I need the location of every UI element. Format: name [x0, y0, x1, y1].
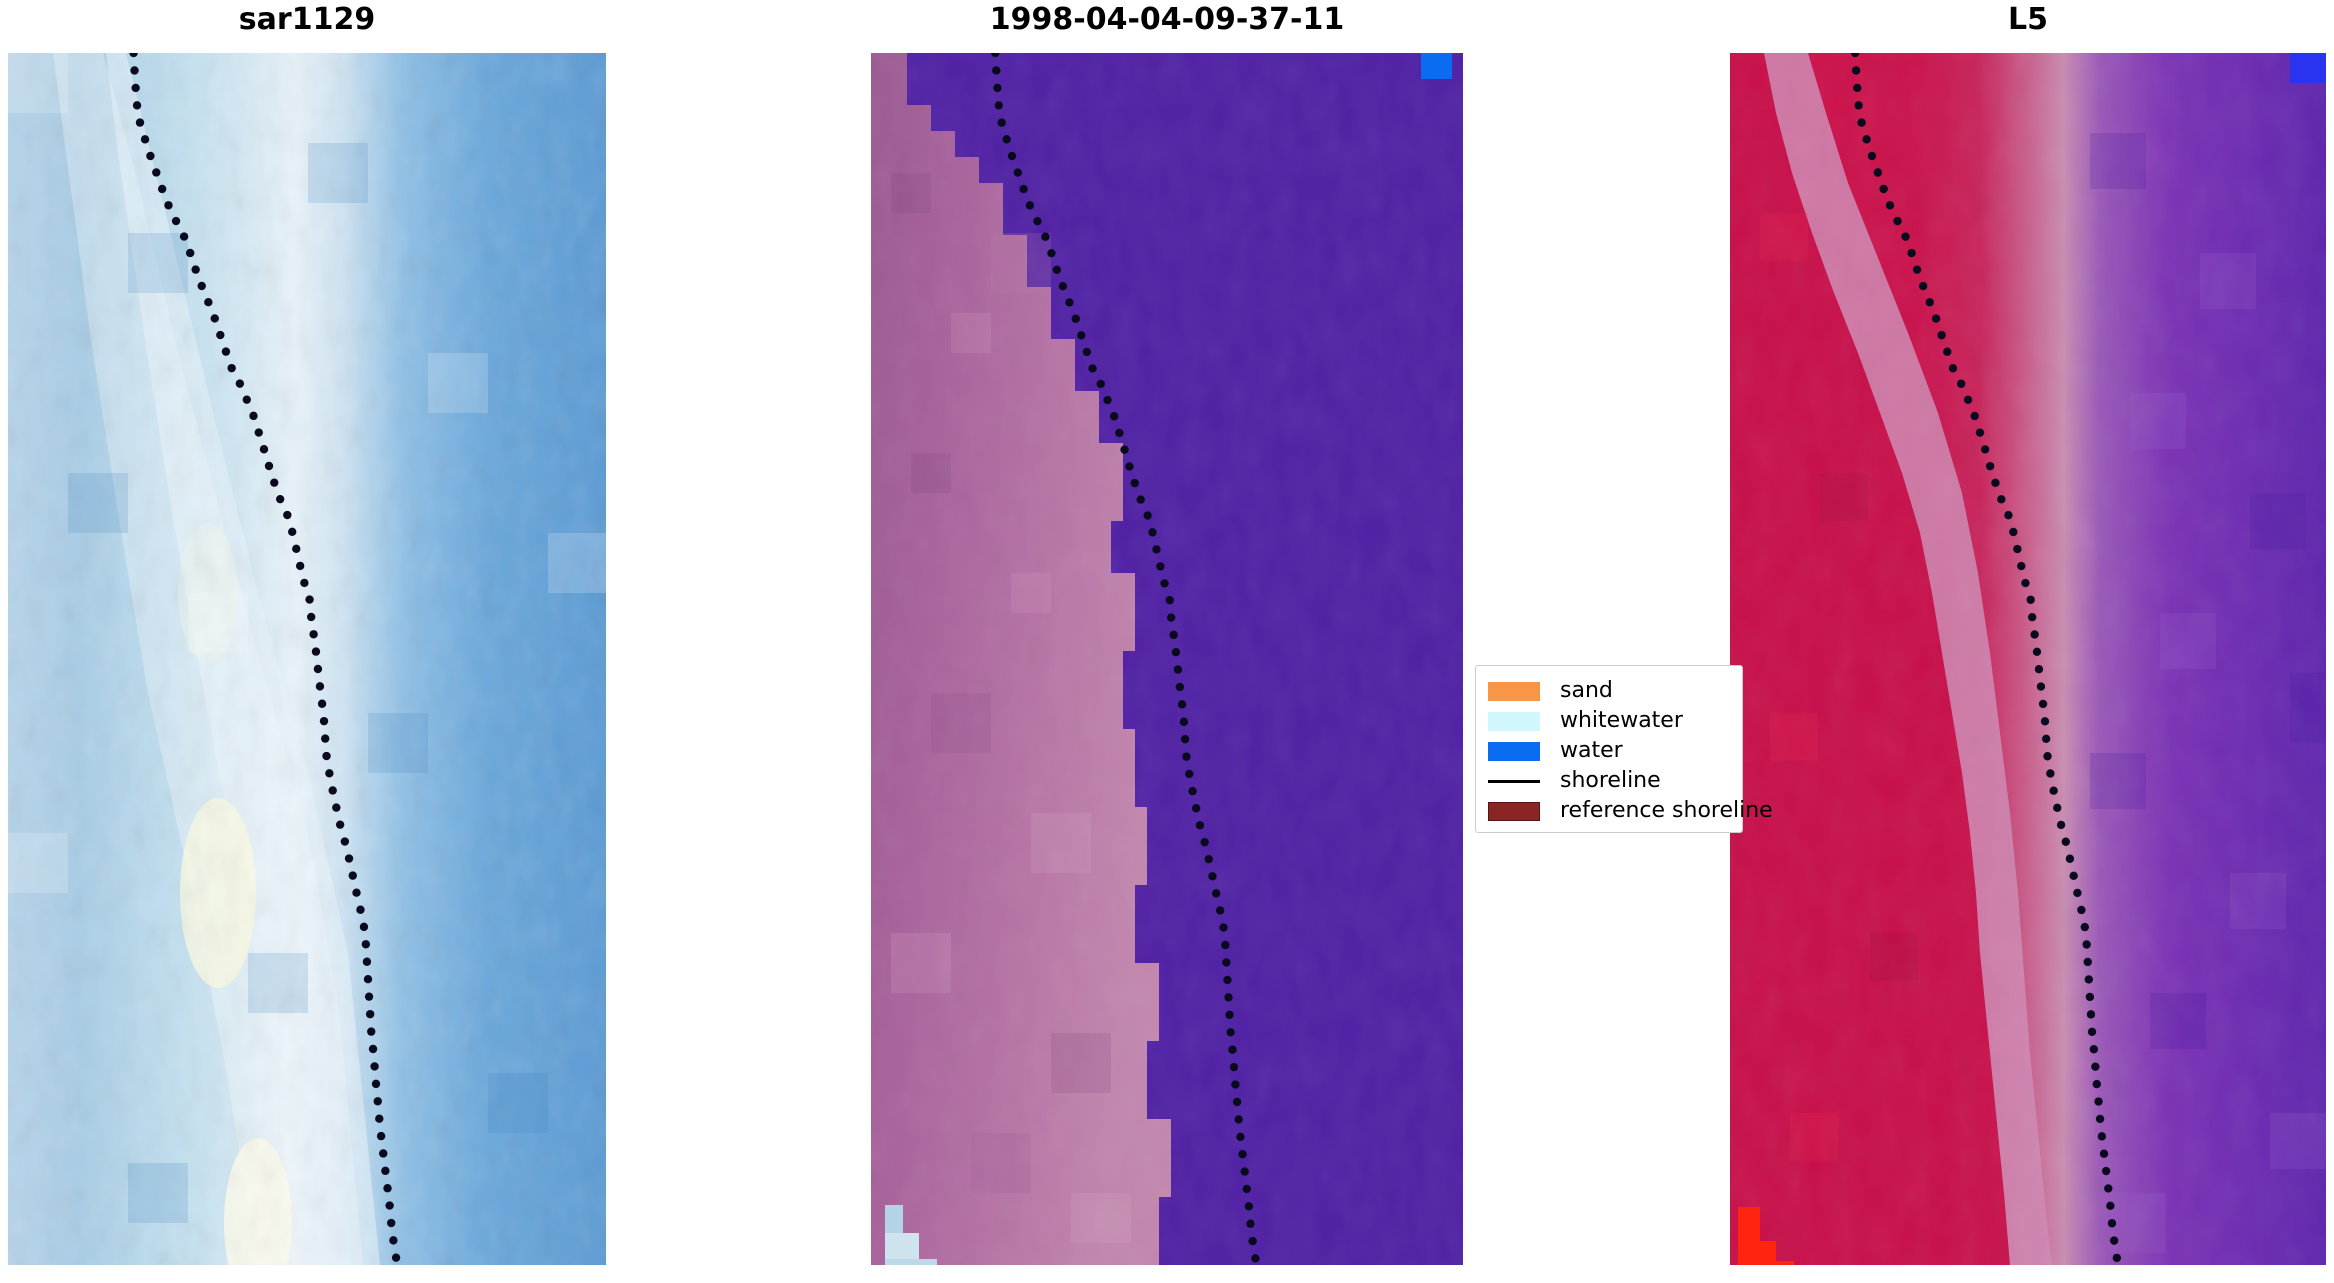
- classified-panel[interactable]: [871, 53, 1463, 1265]
- shoreline-dots: [991, 53, 1259, 1263]
- legend-label-whitewater: whitewater: [1560, 710, 1683, 732]
- legend-item-reference-shoreline[interactable]: reference shoreline: [1488, 796, 1730, 826]
- sand-swatch: [1488, 682, 1540, 701]
- shoreline-overlay-classified: [871, 53, 1463, 1265]
- legend-label-water: water: [1560, 740, 1623, 762]
- reference-shoreline-swatch: [1488, 802, 1540, 821]
- sar-panel[interactable]: [8, 53, 606, 1265]
- whitewater-swatch: [1488, 712, 1540, 731]
- panel-title-l5: L5: [1730, 2, 2326, 37]
- shoreline-dots: [1851, 53, 2121, 1262]
- legend-label-sand: sand: [1560, 680, 1613, 702]
- l5-panel[interactable]: [1730, 53, 2326, 1265]
- legend-item-sand[interactable]: sand: [1488, 676, 1730, 706]
- shoreline-overlay-l5: [1730, 53, 2326, 1265]
- water-swatch: [1488, 742, 1540, 761]
- shoreline-overlay-sar: [8, 53, 606, 1265]
- legend-item-whitewater[interactable]: whitewater: [1488, 706, 1730, 736]
- legend-label-reference-shoreline: reference shoreline: [1560, 800, 1773, 822]
- map-legend[interactable]: sand whitewater water shoreline referenc…: [1475, 665, 1743, 833]
- shoreline-swatch: [1488, 780, 1540, 783]
- legend-label-shoreline: shoreline: [1560, 770, 1661, 792]
- panel-title-classified: 1998-04-04-09-37-11: [871, 2, 1463, 37]
- panel-title-sar: sar1129: [8, 2, 606, 37]
- shoreline-dots: [129, 53, 400, 1262]
- figure-canvas: sar1129: [0, 0, 2334, 1283]
- legend-item-water[interactable]: water: [1488, 736, 1730, 766]
- legend-item-shoreline[interactable]: shoreline: [1488, 766, 1730, 796]
